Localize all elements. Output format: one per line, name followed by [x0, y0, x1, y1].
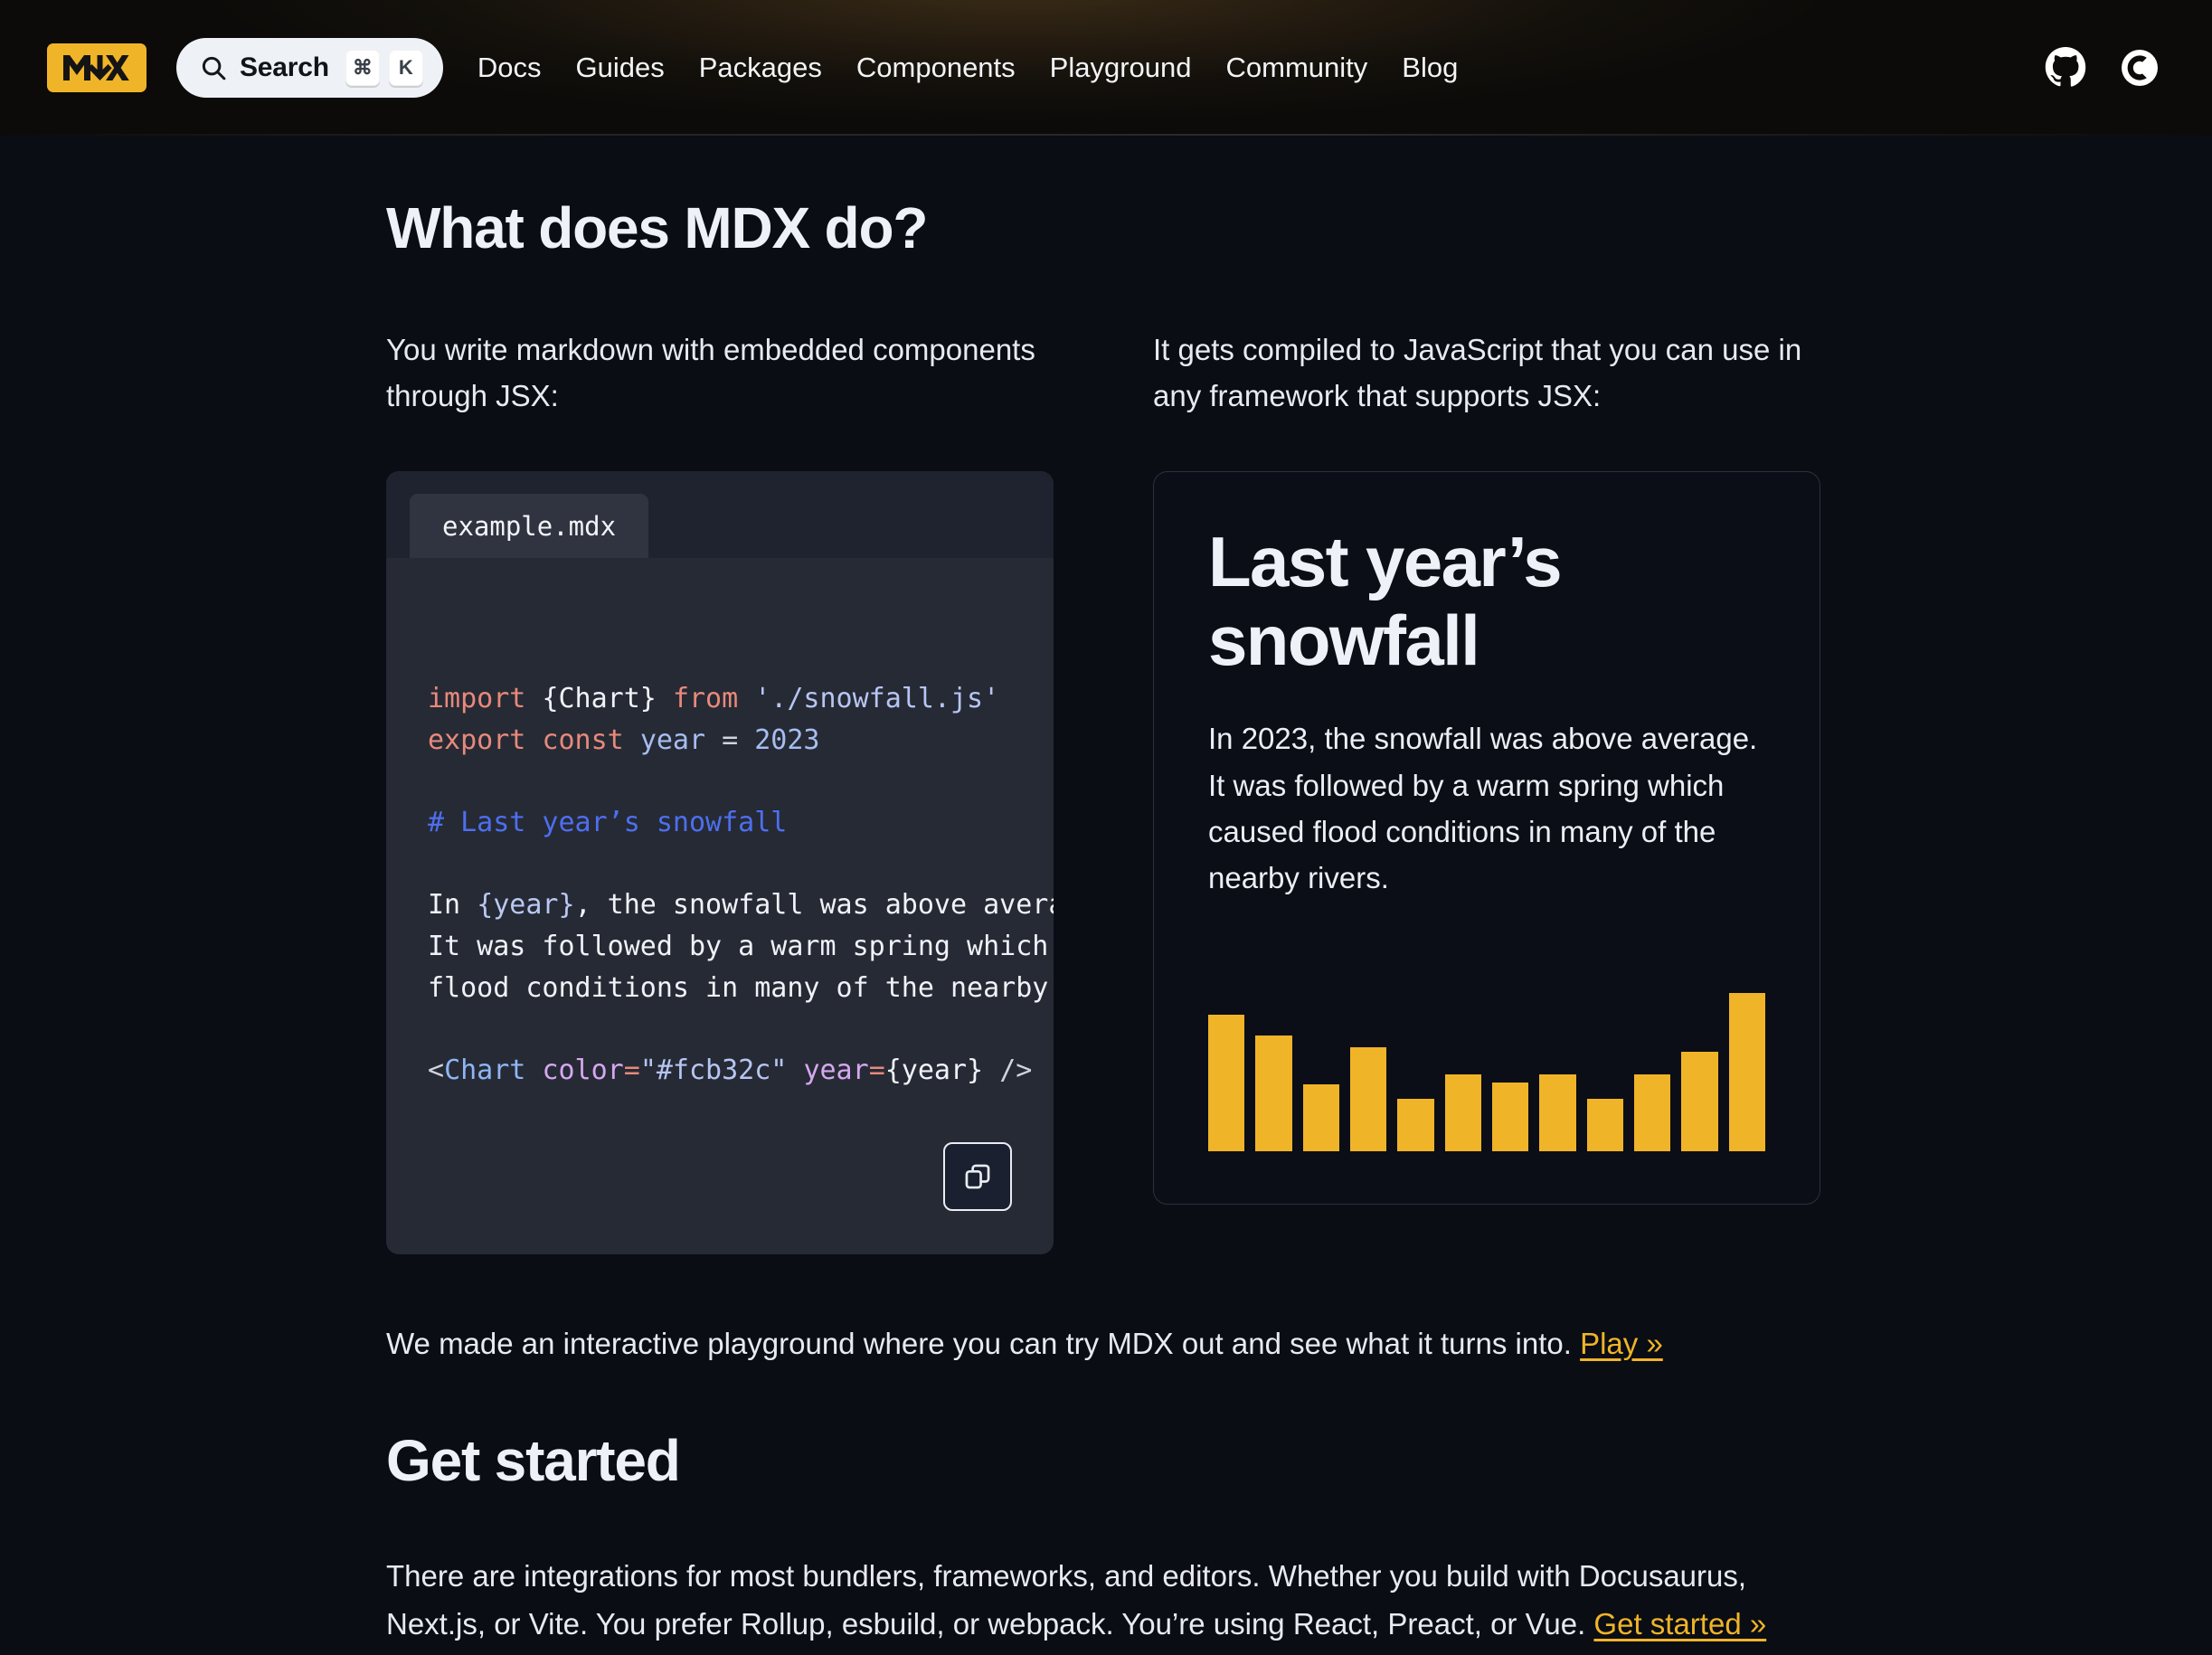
copy-icon [962, 1161, 993, 1192]
chart-bar [1634, 1074, 1670, 1152]
open-collective-icon[interactable] [2118, 46, 2161, 90]
code-token: = [869, 1054, 885, 1086]
chart-bar [1492, 1083, 1528, 1152]
code-token [624, 724, 640, 756]
code-line [428, 844, 1054, 885]
code-token: 2023 [754, 724, 819, 756]
preview-body: In 2023, the snowfall was above average.… [1208, 715, 1765, 901]
github-icon[interactable] [2044, 46, 2087, 90]
code-token: /> [999, 1054, 1032, 1086]
code-line [428, 1008, 1054, 1050]
two-column-layout: You write markdown with embedded compone… [386, 326, 1820, 1254]
get-started-text: There are integrations for most bundlers… [386, 1559, 1746, 1641]
get-started-link[interactable]: Get started » [1593, 1607, 1766, 1641]
code-token [787, 1054, 803, 1086]
nav-link-docs[interactable]: Docs [477, 52, 542, 84]
code-token: color [542, 1054, 623, 1086]
code-token [738, 683, 754, 714]
content-container: What does MDX do? You write markdown wit… [120, 194, 2092, 1649]
code-line: <Chart color="#fcb32c" year={year} /> [428, 1050, 1054, 1092]
code-token: export [428, 724, 525, 756]
code-line: export const year = 2023 [428, 720, 1054, 761]
page-title: What does MDX do? [386, 194, 1820, 261]
output-preview-card: Last year’s snowfall In 2023, the snowfa… [1153, 471, 1820, 1205]
code-line: In {year}, the snowfall was above averag… [428, 884, 1054, 926]
right-column: It gets compiled to JavaScript that you … [1153, 326, 1820, 1254]
code-token: flood conditions in many of the nearby r… [428, 972, 1054, 1004]
code-token [983, 1054, 999, 1086]
code-line: import {Chart} from './snowfall.js' [428, 678, 1054, 720]
code-file-tab[interactable]: example.mdx [410, 494, 648, 558]
search-label: Search [240, 52, 329, 83]
search-button[interactable]: Search ⌘ K [176, 38, 443, 98]
code-card-tab-bar: example.mdx [386, 471, 1054, 558]
code-block[interactable]: import {Chart} from './snowfall.js'expor… [386, 558, 1054, 1254]
nav-link-blog[interactable]: Blog [1402, 52, 1458, 84]
code-line: flood conditions in many of the nearby r… [428, 968, 1054, 1009]
code-token: year [803, 1054, 868, 1086]
preview-title: Last year’s snowfall [1208, 523, 1765, 679]
code-token: './snowfall.js' [754, 683, 999, 714]
code-line [428, 761, 1054, 803]
nav-link-packages[interactable]: Packages [699, 52, 822, 84]
code-token: import [428, 683, 525, 714]
code-token: , the snowfall was above average. [575, 889, 1054, 921]
code-token: Chart [444, 1054, 525, 1086]
code-token: = [624, 1054, 640, 1086]
right-lead-paragraph: It gets compiled to JavaScript that you … [1153, 326, 1820, 419]
left-column: You write markdown with embedded compone… [386, 326, 1054, 1254]
chart-bar [1729, 993, 1765, 1152]
code-token [705, 724, 722, 756]
chart-bar [1255, 1036, 1291, 1151]
code-token: from [673, 683, 738, 714]
code-token: {Chart} [542, 683, 656, 714]
code-token [525, 724, 542, 756]
mdx-logo[interactable] [47, 43, 147, 92]
playground-text: We made an interactive playground where … [386, 1327, 1580, 1360]
get-started-heading: Get started [386, 1427, 1820, 1494]
chart-bar [1587, 1099, 1623, 1152]
code-token [738, 724, 754, 756]
code-token: It was followed by a warm spring which c… [428, 931, 1054, 962]
playground-paragraph: We made an interactive playground where … [386, 1319, 1820, 1367]
playground-play-link[interactable]: Play » [1580, 1327, 1663, 1360]
code-lines: import {Chart} from './snowfall.js'expor… [428, 678, 1054, 1091]
nav-link-community[interactable]: Community [1226, 52, 1368, 84]
kbd-cmd: ⌘ [345, 50, 380, 86]
chart-bar [1397, 1099, 1433, 1152]
search-shortcut: ⌘ K [345, 50, 423, 86]
chart-bar [1681, 1052, 1717, 1151]
page-content: What does MDX do? You write markdown wit… [0, 194, 2212, 1649]
top-navigation-bar: Search ⌘ K Docs Guides Packages Componen… [0, 0, 2212, 136]
nav-icon-group [2044, 46, 2161, 90]
snowfall-bar-chart [1208, 948, 1765, 1151]
kbd-k: K [389, 50, 423, 86]
get-started-paragraph: There are integrations for most bundlers… [386, 1552, 1820, 1649]
code-token [657, 683, 673, 714]
code-token: < [428, 1054, 444, 1086]
code-line: # Last year’s snowfall [428, 802, 1054, 844]
code-token: = [722, 724, 738, 756]
chart-bar [1208, 1015, 1244, 1151]
nav-links: Docs Guides Packages Components Playgrou… [477, 52, 1458, 84]
code-token: {year} [477, 889, 574, 921]
code-token [525, 1054, 542, 1086]
chart-bar [1445, 1074, 1481, 1152]
code-token: "#fcb32c" [640, 1054, 788, 1086]
code-token: # Last year’s snowfall [428, 807, 787, 838]
left-lead-paragraph: You write markdown with embedded compone… [386, 326, 1054, 419]
code-line: It was followed by a warm spring which c… [428, 926, 1054, 968]
code-token: const [542, 724, 623, 756]
nav-link-guides[interactable]: Guides [576, 52, 665, 84]
copy-code-button[interactable] [943, 1142, 1012, 1211]
code-token: In [428, 889, 477, 921]
code-card: example.mdx import {Chart} from './snowf… [386, 471, 1054, 1254]
mdx-logo-icon [61, 52, 132, 83]
search-icon [200, 54, 227, 81]
chart-bar [1539, 1074, 1575, 1152]
code-token: {year} [885, 1054, 983, 1086]
code-token: year [640, 724, 705, 756]
chart-bar [1350, 1047, 1386, 1151]
chart-bar [1303, 1084, 1339, 1151]
code-token [525, 683, 542, 714]
nav-link-playground[interactable]: Playground [1050, 52, 1192, 84]
nav-link-components[interactable]: Components [856, 52, 1016, 84]
